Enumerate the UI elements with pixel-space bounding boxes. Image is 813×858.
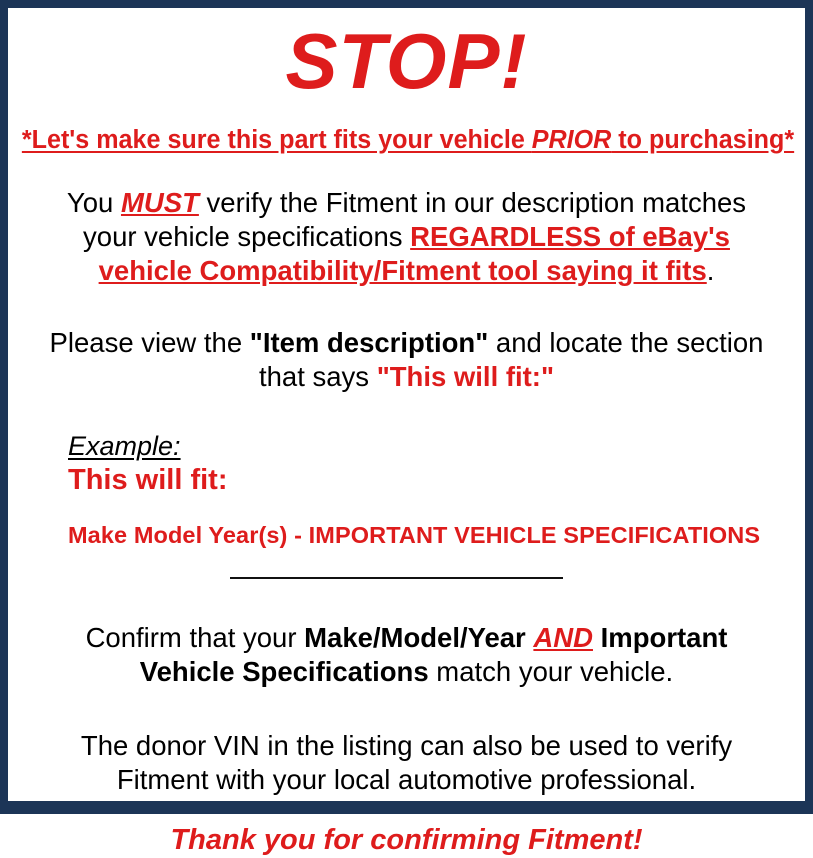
page-title: STOP! bbox=[16, 22, 797, 100]
must-verify-paragraph: You MUST verify the Fitment in our descr… bbox=[16, 186, 797, 288]
confirm-space-2 bbox=[593, 622, 601, 653]
divider-rule bbox=[230, 577, 563, 579]
confirm-paragraph: Confirm that your Make/Model/Year AND Im… bbox=[16, 621, 797, 689]
example-spec-line: Make Model Year(s) - IMPORTANT VEHICLE S… bbox=[68, 521, 797, 549]
example-label: Example: bbox=[68, 431, 181, 462]
example-block: Example: This will fit: Make Model Year(… bbox=[16, 431, 797, 550]
example-fit-heading: This will fit: bbox=[68, 464, 797, 497]
divider bbox=[16, 571, 797, 587]
subtitle-prefix-text: *Let's make sure this part fits your veh… bbox=[22, 126, 532, 154]
thank-you-line: Thank you for confirming Fitment! bbox=[16, 823, 797, 858]
confirm-part2: match your vehicle. bbox=[429, 656, 674, 687]
must-paragraph-part1: You bbox=[67, 187, 121, 218]
donor-vin-paragraph: The donor VIN in the listing can also be… bbox=[16, 729, 797, 797]
must-paragraph-part3: . bbox=[707, 255, 715, 286]
subtitle-emphasis-prior: PRIOR bbox=[532, 126, 612, 154]
confirm-part1: Confirm that your bbox=[86, 622, 305, 653]
and-emphasis: AND bbox=[533, 622, 593, 653]
must-emphasis: MUST bbox=[121, 187, 199, 218]
item-desc-part1: Please view the bbox=[50, 327, 250, 358]
fitment-notice-card: STOP! *Let's make sure this part fits yo… bbox=[0, 0, 813, 814]
subtitle-suffix-text: to purchasing* bbox=[611, 126, 794, 154]
this-will-fit-emphasis: "This will fit:" bbox=[377, 361, 554, 392]
item-description-paragraph: Please view the "Item description" and l… bbox=[16, 326, 797, 394]
item-description-emphasis: "Item description" bbox=[250, 327, 488, 358]
example-label-row: Example: bbox=[68, 431, 797, 462]
subtitle-warning: *Let's make sure this part fits your veh… bbox=[22, 126, 791, 154]
make-model-year-emphasis: Make/Model/Year bbox=[304, 622, 526, 653]
